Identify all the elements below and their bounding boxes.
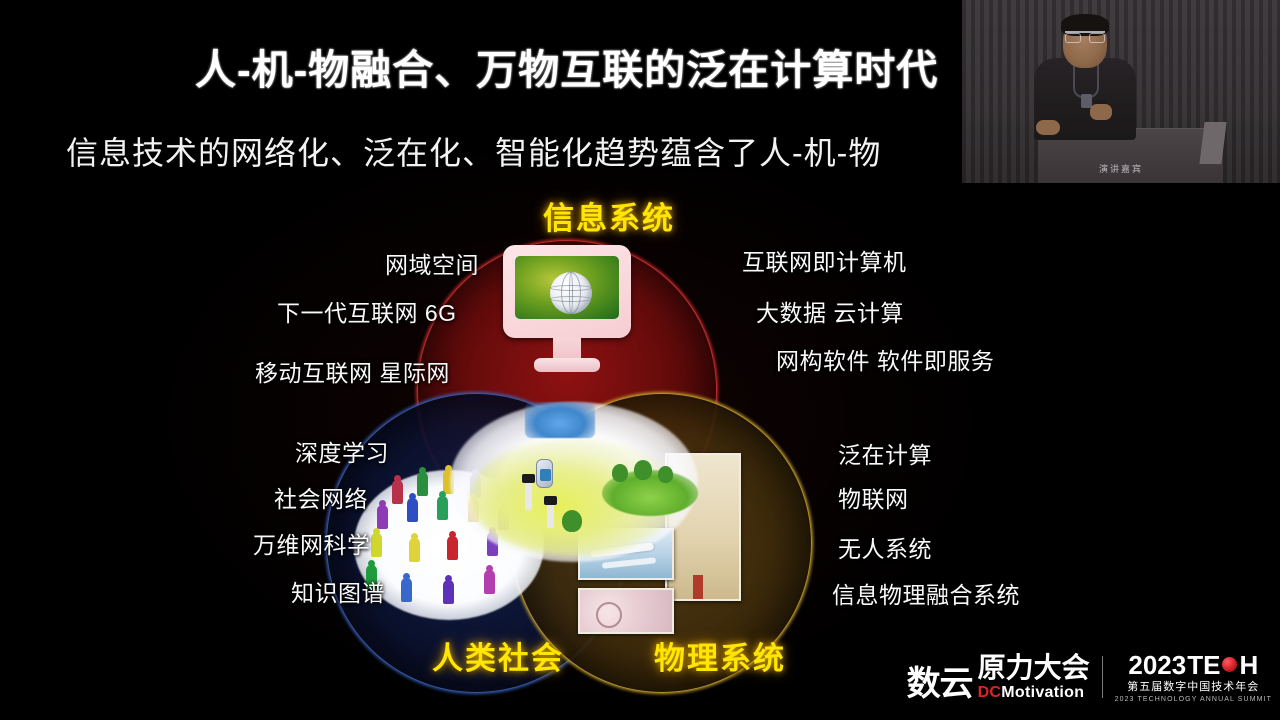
globe-icon (550, 272, 592, 314)
person-figure (392, 480, 403, 504)
tag-lower-left-2: 社会网络 (274, 480, 368, 514)
video-caption: 演讲嘉宾 (962, 162, 1280, 175)
page-subtitle: 信息技术的网络化、泛在化、智能化趋势蕴含了人-机-物 (66, 128, 881, 174)
street-pole-icon (547, 502, 554, 528)
tag-lower-right-2: 物联网 (838, 480, 909, 514)
person-figure (377, 505, 388, 529)
logo-brand-cn: 数云 (907, 667, 973, 701)
mobile-phone-icon (536, 459, 553, 488)
logo-divider (1102, 656, 1103, 698)
tag-lower-right-1: 泛在计算 (838, 436, 932, 470)
computer-monitor-icon (503, 245, 631, 380)
tree-icon (562, 510, 582, 532)
summit-subtitle-cn: 第五届数字中国技术年会 (1127, 682, 1259, 693)
person-figure (437, 496, 448, 520)
logo-brand-en: DCMotivation (978, 685, 1090, 701)
monitor-base (534, 358, 600, 372)
person-figure (407, 498, 418, 522)
person-figure (417, 472, 428, 496)
city-illustration (525, 402, 595, 438)
tag-lower-left-4: 知识图谱 (291, 574, 385, 608)
tag-upper-left-1: 网域空间 (385, 246, 479, 280)
logo-en-motivation: Motivation (1001, 684, 1084, 701)
dc-motivation-logo: 数云 原力大会 DCMotivation (907, 654, 1090, 701)
venn-label-information-system: 信息系统 (543, 193, 675, 238)
summit-te: TE (1187, 652, 1220, 678)
person-figure (409, 538, 420, 562)
tag-upper-right-2: 大数据 云计算 (756, 294, 904, 328)
logo-brand-cn-sub: 原力大会 (978, 654, 1090, 682)
summit-year: 2023 (1128, 652, 1186, 678)
summit-subtitle-en: 2023 TECHNOLOGY ANNUAL SUMMIT (1115, 696, 1272, 703)
person-figure (447, 536, 458, 560)
microscopy-photo (578, 588, 674, 634)
logo-brand-stack: 原力大会 DCMotivation (978, 654, 1090, 701)
summit-red-dot-icon (1222, 657, 1237, 672)
event-logo: 数云 原力大会 DCMotivation 2023TEH 第五届数字中国技术年会… (907, 648, 1272, 706)
speaker-video-overlay[interactable]: 演讲嘉宾 (962, 0, 1280, 183)
summit-h: H (1239, 652, 1258, 678)
venn-diagram: 信息系统 人类社会 物理系统 (0, 180, 1280, 680)
tree-icon (658, 466, 673, 483)
slide-stage: 人-机-物融合、万物互联的泛在计算时代 信息技术的网络化、泛在化、智能化趋势蕴含… (0, 0, 1280, 720)
summit-title: 2023TEH (1128, 652, 1258, 678)
person-figure (484, 570, 495, 594)
tag-upper-right-1: 互联网即计算机 (742, 243, 907, 277)
monitor-bezel (503, 245, 631, 338)
tag-lower-right-3: 无人系统 (838, 530, 932, 564)
tag-lower-left-1: 深度学习 (295, 434, 389, 468)
speaker-right-hand (1090, 104, 1112, 120)
venn-label-physical-system: 物理系统 (654, 633, 786, 678)
page-title: 人-机-物融合、万物互联的泛在计算时代 (195, 36, 938, 96)
person-figure (401, 578, 412, 602)
person-figure (371, 533, 382, 557)
tag-upper-left-2: 下一代互联网 6G (277, 294, 457, 328)
venn-label-human-society: 人类社会 (432, 633, 564, 678)
logo-en-dc: DC (978, 684, 1002, 701)
tag-upper-left-3: 移动互联网 星际网 (255, 354, 450, 388)
summit-logo: 2023TEH 第五届数字中国技术年会 2023 TECHNOLOGY ANNU… (1115, 652, 1272, 703)
tree-icon (634, 460, 652, 480)
monitor-screen (515, 256, 619, 319)
tree-icon (612, 464, 628, 482)
tag-lower-left-3: 万维网科学 (253, 526, 371, 560)
speaker-left-hand (1036, 120, 1060, 135)
street-pole-icon (525, 480, 532, 510)
tag-upper-right-3: 网构软件 软件即服务 (776, 342, 994, 376)
tag-lower-right-4: 信息物理融合系统 (832, 576, 1020, 610)
glasses-icon (1065, 31, 1105, 40)
person-figure (443, 580, 454, 604)
